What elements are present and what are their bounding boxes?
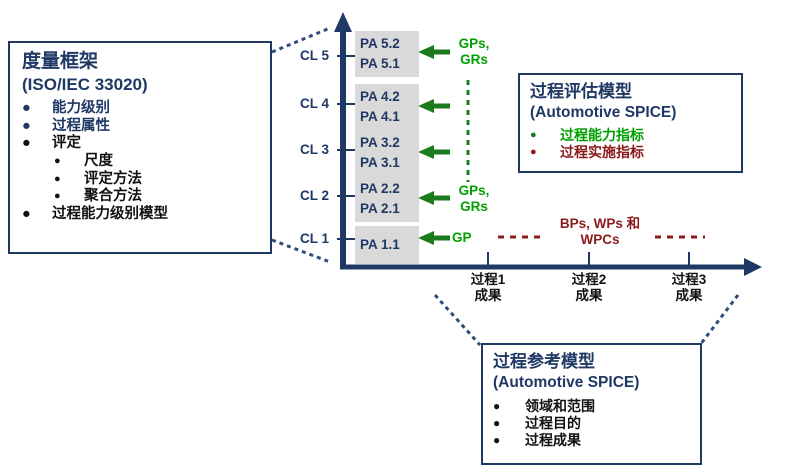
list-item-label: 过程目的	[525, 415, 581, 431]
list-item[interactable]: ● 评定方法	[22, 171, 262, 189]
bullet-icon: ●	[22, 100, 31, 118]
measurement-framework-title: 度量框架	[22, 51, 98, 73]
y-tick-label-cl2: CL 2	[300, 188, 329, 203]
annotation-gps-grs-bottom: GPs, GRs	[452, 183, 496, 215]
x-tick-label-1-line1: 过程1	[448, 272, 528, 288]
bullet-icon: ●	[493, 433, 500, 448]
bullet-icon: ●	[530, 146, 537, 159]
y-axis-ticks	[337, 56, 355, 239]
green-arrow-cl3	[418, 145, 450, 159]
list-item[interactable]: ● 聚合方法	[22, 188, 262, 206]
list-item[interactable]: ● 过程能力级别模型	[22, 206, 262, 224]
list-item[interactable]: ● 过程实施指标	[530, 144, 735, 161]
list-item[interactable]: ● 尺度	[22, 153, 262, 171]
process-reference-model-panel[interactable]: 过程参考模型 (Automotive SPICE) ● 领域和范围 ● 过程目的…	[481, 343, 702, 465]
measurement-framework-subtitle: (ISO/IEC 33020)	[22, 75, 148, 95]
annotation-gps-grs-top: GPs, GRs	[452, 36, 496, 68]
bullet-icon: ●	[493, 416, 500, 431]
list-item[interactable]: ● 评定	[22, 135, 262, 153]
list-item-label: 过程属性	[52, 118, 110, 134]
list-item[interactable]: ● 领域和范围	[493, 398, 693, 415]
annotation-gps-grs-top-line1: GPs,	[452, 36, 496, 52]
x-tick-label-2: 过程2 成果	[549, 272, 629, 304]
process-assessment-model-list: ● 过程能力指标 ● 过程实施指标	[530, 127, 735, 161]
pa-label-3-1: PA 3.1	[355, 153, 419, 173]
pa-label-2-2: PA 2.2	[355, 179, 419, 199]
pa-label-4-2: PA 4.2	[355, 87, 419, 107]
x-tick-label-3-line1: 过程3	[649, 272, 729, 288]
pa-box-cl4[interactable]: PA 4.2 PA 4.1	[355, 84, 419, 130]
pa-label-2-1: PA 2.1	[355, 199, 419, 219]
pa-box-cl1[interactable]: PA 1.1	[355, 226, 419, 264]
pa-label-4-1: PA 4.1	[355, 107, 419, 127]
green-arrow-cl1	[418, 231, 450, 245]
list-item-label: 评定	[52, 135, 81, 151]
list-item-label: 过程成果	[525, 432, 581, 448]
x-tick-label-3: 过程3 成果	[649, 272, 729, 304]
process-assessment-model-panel[interactable]: 过程评估模型 (Automotive SPICE) ● 过程能力指标 ● 过程实…	[518, 73, 743, 173]
bullet-icon: ●	[22, 206, 31, 224]
process-assessment-model-subtitle: (Automotive SPICE)	[530, 104, 676, 122]
y-tick-label-cl3: CL 3	[300, 142, 329, 157]
annotation-gp: GP	[452, 230, 486, 246]
pa-label-5-1: PA 5.1	[355, 54, 419, 74]
green-arrow-cl5	[418, 45, 450, 59]
bullet-icon: ●	[22, 135, 31, 153]
list-item[interactable]: ● 过程目的	[493, 415, 693, 432]
bullet-icon: ●	[22, 118, 31, 136]
y-tick-label-cl5: CL 5	[300, 48, 329, 63]
pa-label-3-2: PA 3.2	[355, 133, 419, 153]
x-tick-label-3-line2: 成果	[649, 288, 729, 304]
green-arrow-cl4	[418, 99, 450, 113]
annotation-gps-grs-bottom-line1: GPs,	[452, 183, 496, 199]
list-item-label: 评定方法	[84, 171, 142, 187]
process-reference-model-subtitle: (Automotive SPICE)	[493, 374, 639, 392]
process-reference-model-title: 过程参考模型	[493, 352, 595, 372]
list-item[interactable]: ● 能力级别	[22, 100, 262, 118]
pa-label-1-1: PA 1.1	[355, 235, 419, 255]
x-tick-label-2-line1: 过程2	[549, 272, 629, 288]
list-item-label: 尺度	[84, 153, 113, 169]
diagram-canvas: CL 5 CL 4 CL 3 CL 2 CL 1 PA 5.2 PA 5.1 P…	[0, 0, 791, 470]
green-arrows-group	[418, 45, 450, 245]
process-assessment-model-title: 过程评估模型	[530, 82, 632, 102]
y-tick-label-cl4: CL 4	[300, 96, 329, 111]
list-item-label: 过程能力指标	[560, 127, 644, 143]
bullet-icon: ●	[54, 155, 61, 168]
list-item-label: 能力级别	[52, 100, 110, 116]
x-tick-label-1: 过程1 成果	[448, 272, 528, 304]
bullet-icon: ●	[493, 399, 500, 414]
process-reference-model-list: ● 领域和范围 ● 过程目的 ● 过程成果	[493, 398, 693, 449]
list-item-label: 过程实施指标	[560, 144, 644, 160]
green-arrow-cl2	[418, 191, 450, 205]
annotation-bps-line1: BPs, WPs 和	[540, 216, 660, 232]
pa-label-5-2: PA 5.2	[355, 34, 419, 54]
pa-box-cl2[interactable]: PA 2.2 PA 2.1	[355, 176, 419, 222]
bullet-icon: ●	[54, 173, 61, 186]
pa-box-cl3[interactable]: PA 3.2 PA 3.1	[355, 130, 419, 176]
annotation-bps-line2: WPCs	[540, 232, 660, 248]
measurement-framework-panel[interactable]: 度量框架 (ISO/IEC 33020) ● 能力级别 ● 过程属性 ● 评定 …	[8, 41, 272, 254]
list-item[interactable]: ● 过程能力指标	[530, 127, 735, 144]
y-tick-label-cl1: CL 1	[300, 231, 329, 246]
bullet-icon: ●	[530, 129, 537, 142]
x-axis-ticks	[488, 252, 689, 267]
pa-box-cl5[interactable]: PA 5.2 PA 5.1	[355, 31, 419, 77]
list-item-label: 领域和范围	[525, 398, 595, 414]
annotation-gps-grs-bottom-line2: GRs	[452, 199, 496, 215]
x-tick-label-1-line2: 成果	[448, 288, 528, 304]
list-item[interactable]: ● 过程成果	[493, 432, 693, 449]
list-item-label: 过程能力级别模型	[52, 206, 168, 222]
x-tick-label-2-line2: 成果	[549, 288, 629, 304]
bullet-icon: ●	[54, 190, 61, 203]
y-axis	[334, 12, 352, 268]
annotation-bps-wps-wpcs: BPs, WPs 和 WPCs	[540, 216, 660, 248]
measurement-framework-list: ● 能力级别 ● 过程属性 ● 评定 ● 尺度 ● 评定方法 ● 聚合方法	[22, 100, 262, 224]
list-item[interactable]: ● 过程属性	[22, 118, 262, 136]
annotation-gps-grs-top-line2: GRs	[452, 52, 496, 68]
list-item-label: 聚合方法	[84, 188, 142, 204]
